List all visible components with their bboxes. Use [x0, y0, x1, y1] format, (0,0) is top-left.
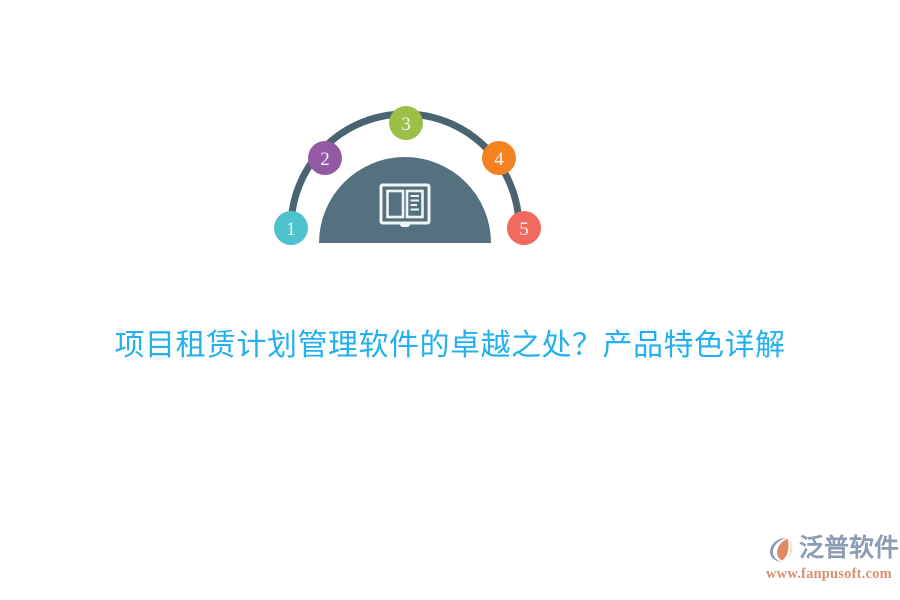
brand-lockup: 泛普软件	[766, 532, 894, 565]
step-marker-2-label: 2	[320, 149, 330, 170]
fanpu-logo-icon	[766, 534, 796, 564]
brand-name: 泛普软件	[799, 536, 899, 561]
step-marker-4-label: 4	[494, 149, 504, 170]
step-marker-3-label: 3	[401, 114, 411, 135]
step-marker-3[interactable]: 3	[389, 106, 423, 140]
step-marker-5-label: 5	[519, 219, 529, 240]
dome-shape	[319, 157, 491, 243]
step-marker-4[interactable]: 4	[482, 141, 516, 175]
step-marker-1[interactable]: 1	[274, 211, 308, 245]
brand-url: www.fanpusoft.com	[766, 566, 894, 583]
poster-canvas: 1 2 3 4 5 项目租赁计划管理软件的卓	[0, 0, 900, 600]
step-marker-2[interactable]: 2	[308, 141, 342, 175]
brand-watermark: 泛普软件 www.fanpusoft.com	[766, 532, 894, 586]
five-step-arc-diagram: 1 2 3 4 5	[255, 88, 555, 258]
step-marker-1-label: 1	[286, 219, 296, 240]
step-marker-5[interactable]: 5	[507, 211, 541, 245]
page-title: 项目租赁计划管理软件的卓越之处？产品特色详解	[0, 326, 900, 367]
